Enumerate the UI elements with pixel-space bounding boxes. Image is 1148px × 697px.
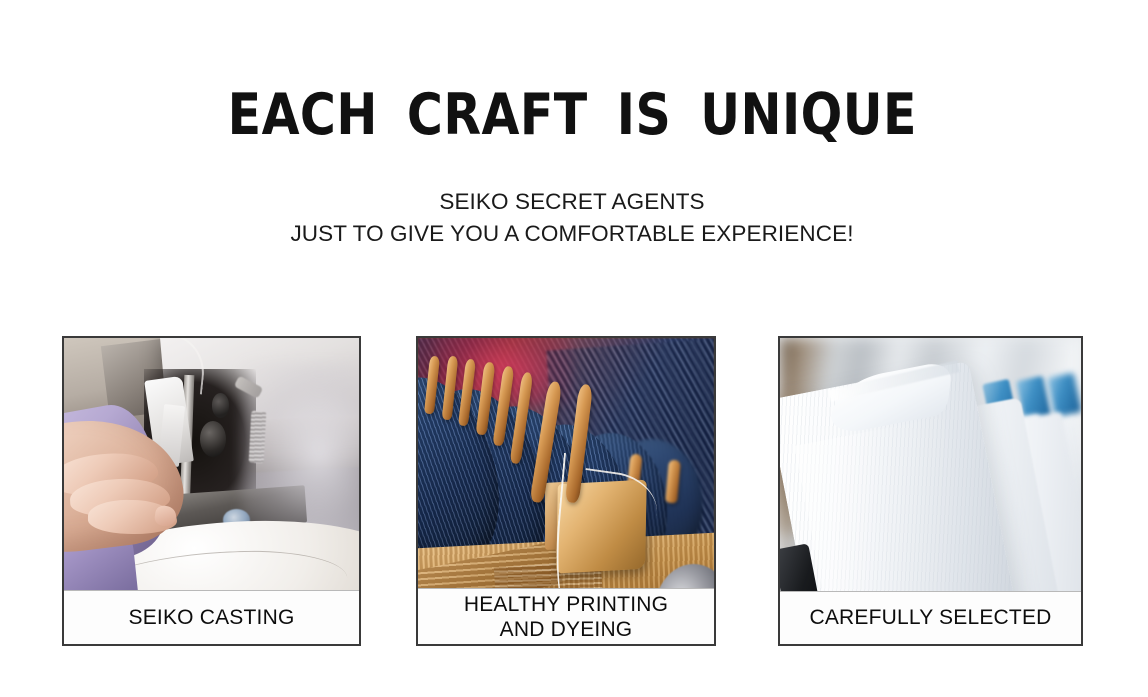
card-caption-text-line-2: AND DYEING xyxy=(500,617,633,642)
page-title: EACH CRAFT IS UNIQUE xyxy=(80,86,1067,144)
photo-bokeh-highlight xyxy=(241,362,359,546)
page-subtitle: SEIKO SECRET AGENTS JUST TO GIVE YOU A C… xyxy=(0,186,1148,250)
feature-card-carefully-selected[interactable]: CAREFULLY SELECTED xyxy=(778,336,1083,646)
page-title-word-1: EACH xyxy=(228,82,378,148)
card-caption-text: CAREFULLY SELECTED xyxy=(809,605,1051,631)
title-space xyxy=(588,82,617,148)
feature-card-healthy-printing-and-dyeing[interactable]: HEALTHY PRINTING AND DYEING xyxy=(416,336,716,646)
card-caption-text: SEIKO CASTING xyxy=(129,605,295,631)
page-title-word-2: CRAFT xyxy=(407,82,588,148)
card-caption: CAREFULLY SELECTED xyxy=(780,591,1081,644)
card-caption: HEALTHY PRINTING AND DYEING xyxy=(418,588,714,644)
machine-knob-small-shape xyxy=(212,393,230,417)
title-space xyxy=(671,82,700,148)
feature-card-seiko-casting[interactable]: SEIKO CASTING xyxy=(62,336,361,646)
page-subtitle-line-2: JUST TO GIVE YOU A COMFORTABLE EXPERIENC… xyxy=(0,218,1144,250)
title-space xyxy=(378,82,407,148)
card-caption: SEIKO CASTING xyxy=(64,590,359,644)
card-caption-text-line-1: HEALTHY PRINTING xyxy=(464,592,668,617)
page-title-word-4: UNIQUE xyxy=(700,82,917,148)
page-subtitle-line-1: SEIKO SECRET AGENTS xyxy=(0,186,1144,218)
page-title-word-3: IS xyxy=(617,82,671,148)
